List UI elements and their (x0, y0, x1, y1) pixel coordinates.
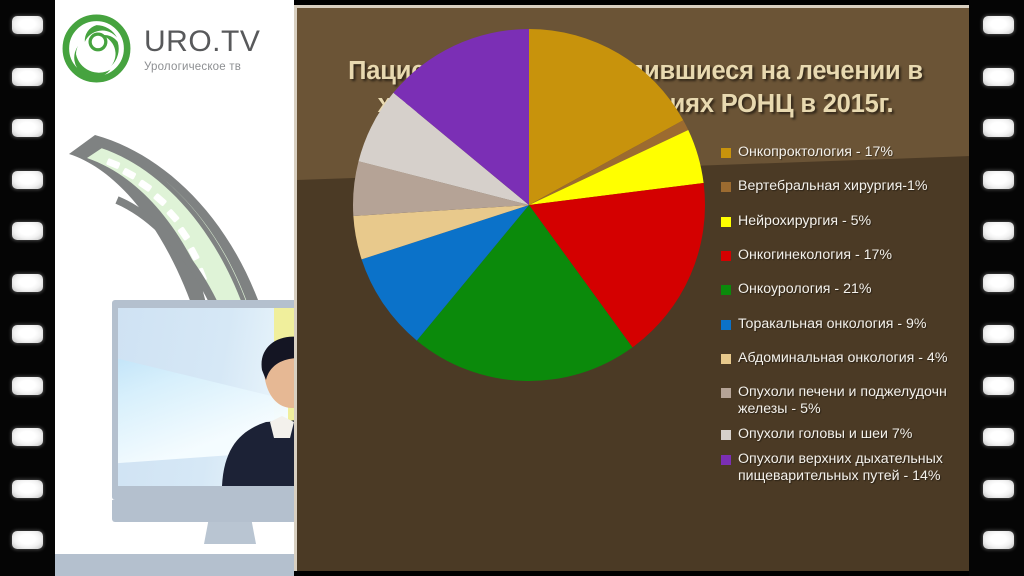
legend-swatch (721, 182, 731, 192)
monitor-stand (204, 522, 256, 544)
film-perforation (12, 531, 43, 549)
desk-surface (55, 554, 294, 576)
film-perforation (12, 274, 43, 292)
legend-label-line2: железы - 5% (738, 401, 947, 417)
chart-legend: Онкопроктология - 17%Вертебральная хирур… (721, 144, 974, 502)
legend-item: Опухоли верхних дыхательныхпищеварительн… (721, 451, 974, 484)
film-perforation (12, 171, 43, 189)
legend-swatch (721, 430, 731, 440)
presentation-slide: Пациенты из МО, находившиеся на лечении … (294, 5, 974, 571)
legend-label: Онкогинекология - 17% (738, 247, 892, 263)
legend-item: Онкопроктология - 17% (721, 144, 974, 160)
legend-label: Опухоли верхних дыхательныхпищеварительн… (738, 451, 943, 484)
monitor-chin (112, 500, 294, 522)
uro-swirl-logo-icon (60, 12, 133, 85)
filmstrip-left-border (0, 0, 55, 576)
legend-item: Онкогинекология - 17% (721, 247, 974, 263)
logo-subtitle: Урологическое тв (144, 61, 241, 73)
legend-item: Нейрохирургия - 5% (721, 213, 974, 229)
legend-item: Опухоли головы и шеи 7% (721, 426, 974, 442)
film-perforation (983, 222, 1014, 240)
legend-item: Вертебральная хирургия-1% (721, 178, 974, 194)
film-perforation (983, 480, 1014, 498)
presenter-silhouette (218, 334, 294, 486)
legend-swatch (721, 388, 731, 398)
legend-swatch (721, 251, 731, 261)
film-perforation (983, 377, 1014, 395)
film-perforation (983, 16, 1014, 34)
film-perforation (12, 428, 43, 446)
legend-label: Торакальная онкология - 9% (738, 316, 927, 332)
film-perforation (12, 119, 43, 137)
film-perforation (12, 16, 43, 34)
legend-label: Опухоли головы и шеи 7% (738, 426, 912, 442)
legend-item: Опухоли печени и поджелудочнжелезы - 5% (721, 384, 974, 417)
film-perforation (12, 222, 43, 240)
pie-chart (349, 25, 709, 390)
film-perforation (12, 480, 43, 498)
legend-swatch (721, 217, 731, 227)
monitor-icon (112, 300, 294, 576)
legend-swatch (721, 455, 731, 465)
presenter-photo (118, 308, 294, 486)
film-perforation (983, 325, 1014, 343)
film-perforation (983, 428, 1014, 446)
film-perforation (983, 68, 1014, 86)
film-perforation (12, 377, 43, 395)
screenshot-stage: URO.TV Урологическое тв (0, 0, 1024, 576)
film-perforation (983, 171, 1014, 189)
legend-label: Вертебральная хирургия-1% (738, 178, 928, 194)
legend-label: Онкоурология - 21% (738, 281, 872, 297)
film-perforation (983, 531, 1014, 549)
legend-item: Онкоурология - 21% (721, 281, 974, 297)
legend-swatch (721, 148, 731, 158)
filmstrip-icon (55, 130, 294, 320)
legend-item: Абдоминальная онкология - 4% (721, 350, 974, 366)
logo: URO.TV Урологическое тв (60, 12, 294, 85)
film-perforation (983, 274, 1014, 292)
legend-swatch (721, 354, 731, 364)
legend-swatch (721, 320, 731, 330)
logo-title: URO.TV (144, 25, 260, 58)
legend-label: Нейрохирургия - 5% (738, 213, 871, 229)
film-perforation (12, 68, 43, 86)
branding-panel: URO.TV Урологическое тв (55, 0, 294, 576)
legend-label-line2: пищеварительных путей - 14% (738, 468, 943, 484)
monitor-base (112, 544, 294, 554)
filmstrip-right-border (969, 0, 1024, 576)
legend-item: Торакальная онкология - 9% (721, 316, 974, 332)
legend-swatch (721, 285, 731, 295)
film-perforation (983, 119, 1014, 137)
film-perforation (12, 325, 43, 343)
legend-label: Онкопроктология - 17% (738, 144, 893, 160)
legend-label: Опухоли печени и поджелудочнжелезы - 5% (738, 384, 947, 417)
legend-label: Абдоминальная онкология - 4% (738, 350, 947, 366)
